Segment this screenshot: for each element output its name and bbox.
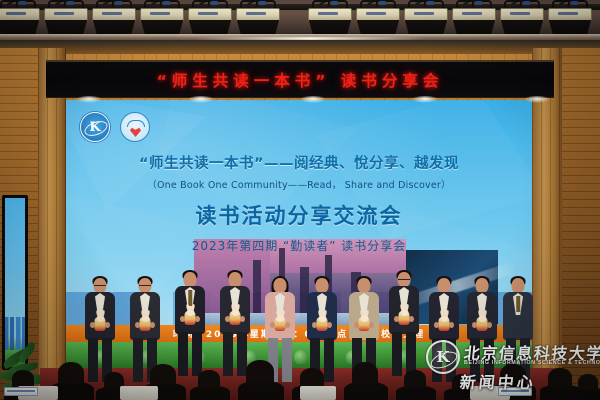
lamp-label	[462, 12, 482, 15]
lamp-body	[0, 8, 40, 21]
lamp-label	[558, 12, 578, 15]
ceiling-downlight-2	[188, 96, 214, 103]
lamp-body	[140, 8, 184, 21]
hands	[225, 316, 245, 322]
mascot-head	[186, 309, 194, 316]
screen-headline-en: （One Book One Community——Read， Share and…	[66, 177, 532, 191]
lamp-label	[366, 12, 386, 15]
emblem-letter: K	[81, 113, 109, 141]
wall-right-section	[562, 48, 600, 400]
ceiling-downlight-5	[524, 96, 550, 103]
lamp-label	[102, 12, 122, 15]
necktie	[516, 296, 520, 312]
hands	[472, 322, 492, 328]
led-banner-text: “师生共读一本书” 读书分享会	[157, 69, 444, 91]
audience-head-11	[500, 364, 526, 385]
head	[512, 278, 525, 293]
audience-member-9	[396, 386, 436, 400]
mascot-head	[231, 309, 239, 316]
hands	[354, 322, 374, 328]
chair-back-2	[120, 386, 158, 400]
head	[316, 278, 329, 293]
lamp-clip	[259, 1, 266, 5]
glasses-icon	[398, 279, 410, 282]
audience-head-9	[404, 370, 426, 388]
lamp-body	[452, 8, 496, 21]
hands	[180, 316, 200, 322]
audience-member-6	[238, 381, 284, 400]
audience-foreground	[0, 360, 600, 400]
lamp-clip	[331, 1, 338, 5]
lamp-clip	[115, 1, 122, 5]
ceiling-downlight-1	[76, 96, 102, 103]
lamp-body	[356, 8, 400, 21]
side-display-screen	[2, 195, 28, 370]
screen-main-title: 读书活动分享交流会	[66, 200, 532, 230]
lamp-clip	[379, 1, 386, 5]
mascot-head	[141, 315, 149, 322]
lamp-clip	[571, 1, 578, 5]
hands	[394, 316, 414, 322]
open-book-icon	[127, 120, 145, 127]
lamp-label	[414, 12, 434, 15]
lamp-label	[54, 12, 74, 15]
lamp-body	[236, 8, 280, 21]
ceiling-downlight-4	[412, 96, 438, 103]
mascot-head	[478, 315, 486, 322]
hands	[270, 322, 290, 328]
necktie	[188, 290, 192, 306]
desk-nameplate-1	[4, 387, 38, 396]
audience-head-2	[58, 362, 84, 384]
lamp-body	[500, 8, 544, 21]
hands	[135, 322, 155, 328]
audience-head-12	[548, 368, 572, 387]
audience-member-8	[344, 382, 388, 400]
hands	[90, 322, 110, 328]
ceiling-downlight-row	[46, 96, 554, 104]
lamp-clip	[475, 1, 482, 5]
lamp-clip	[427, 1, 434, 5]
audience-head-4	[150, 364, 176, 385]
lamp-body	[44, 8, 88, 21]
mascot-head	[96, 315, 104, 322]
head	[184, 272, 197, 287]
head	[229, 272, 242, 287]
audience-head-13	[578, 374, 598, 390]
mascot-head	[318, 315, 326, 322]
library-reading-emblem-icon	[120, 112, 150, 142]
lamp-clip	[19, 1, 26, 5]
lamp-body	[404, 8, 448, 21]
led-headline-banner: “师生共读一本书” 读书分享会	[46, 60, 554, 98]
lamp-clip	[523, 1, 530, 5]
audience-head-8	[352, 362, 378, 384]
screen-headline-cn: “师生共读一本书”——阅经典、悅分享、越发现	[66, 152, 532, 173]
hands	[312, 322, 332, 328]
bistu-university-emblem-icon: K	[80, 112, 110, 142]
head	[476, 278, 489, 293]
audience-head-7	[300, 368, 324, 387]
lamp-label	[510, 12, 530, 15]
mascot-head	[276, 315, 284, 322]
conference-hall-photo: K 时间：2023年星期 14：00 地点：沙河校区文理	[0, 0, 600, 400]
screen-subtitle: 2023年第四期 “勤读者” 读书分享会	[66, 237, 532, 254]
lamp-label	[150, 12, 170, 15]
audience-head-6	[246, 360, 274, 383]
mascot-head	[400, 309, 408, 316]
lamp-label	[198, 12, 218, 15]
side-screen-city	[5, 317, 25, 351]
screen-logo-group: K	[80, 112, 150, 142]
lamp-clip	[163, 1, 170, 5]
ceiling-downlight-3	[300, 96, 326, 103]
lamp-label	[246, 12, 266, 15]
audience-member-5	[190, 386, 230, 400]
desk-nameplate-2	[498, 387, 532, 396]
head	[358, 278, 371, 293]
lamp-label	[6, 12, 26, 15]
lamp-body	[92, 8, 136, 21]
head	[438, 278, 451, 293]
lamp-body	[308, 8, 352, 21]
lamp-body	[548, 8, 592, 21]
screen-text-block: “师生共读一本书”——阅经典、悅分享、越发现 （One Book One Com…	[66, 152, 532, 254]
head	[274, 278, 287, 293]
audience-head-5	[198, 370, 220, 388]
glasses-icon	[94, 285, 106, 288]
audience-head-10	[452, 374, 472, 390]
heart-icon	[130, 127, 141, 137]
mascot-head	[360, 315, 368, 322]
lamp-body	[188, 8, 232, 21]
hands	[434, 322, 454, 328]
lamp-clip	[211, 1, 218, 5]
mascot-head	[440, 315, 448, 322]
lamp-clip	[67, 1, 74, 5]
chair-back-3	[300, 386, 336, 400]
wall-shadow-band	[0, 40, 600, 54]
lamp-label	[318, 12, 338, 15]
glasses-icon	[139, 285, 151, 288]
